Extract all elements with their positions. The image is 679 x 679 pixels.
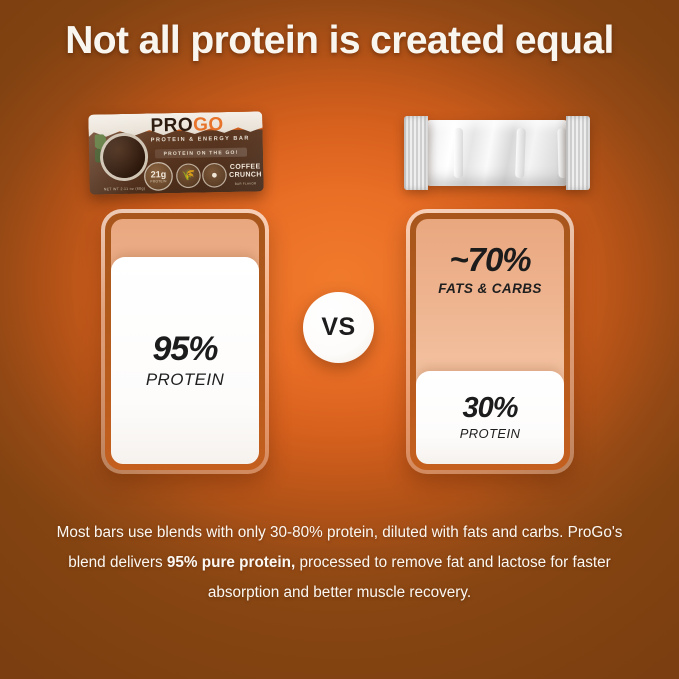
protein-amount-value: 21g bbox=[151, 170, 167, 179]
generic-fats-carbs-label: FATS & CARBS bbox=[438, 281, 542, 296]
comparison-card-progo: 95% PROTEIN bbox=[101, 209, 269, 474]
bar-flavor-plate: COFFEE CRUNCH BAR FLAVOR bbox=[229, 160, 262, 189]
body-bold-claim: 95% pure protein, bbox=[167, 554, 295, 571]
infographic-stage: Not all protein is created equal PROGO P… bbox=[0, 0, 679, 679]
card-fill-fats: 95% PROTEIN bbox=[111, 219, 259, 464]
wrapper-fold bbox=[454, 128, 463, 178]
bar-tagline: PROTEIN ON THE GO! bbox=[155, 148, 247, 159]
progo-protein-percent: 95% bbox=[152, 332, 217, 366]
wrapper-fold bbox=[515, 128, 526, 178]
versus-badge: VS bbox=[303, 292, 374, 363]
wrapper-crimp-right bbox=[566, 116, 590, 190]
protein-share-panel: 30% PROTEIN bbox=[416, 371, 564, 464]
fats-carbs-block: ~70% FATS & CARBS bbox=[416, 243, 564, 296]
comparison-card-generic: ~70% FATS & CARBS 30% PROTEIN bbox=[406, 209, 574, 474]
progo-logo: PROGO bbox=[150, 115, 224, 135]
generic-bar-wrapper-image bbox=[404, 116, 590, 190]
card-border-frame: 95% PROTEIN bbox=[105, 213, 265, 470]
progo-product-bar-image: PROGO PROTEIN & ENERGY BAR PROTEIN ON TH… bbox=[88, 111, 264, 194]
flavor-line-2: CRUNCH bbox=[229, 171, 262, 180]
progo-protein-label: PROTEIN bbox=[146, 370, 224, 390]
logo-pro-text: PRO bbox=[150, 115, 193, 137]
card-border-frame: ~70% FATS & CARBS 30% PROTEIN bbox=[410, 213, 570, 470]
logo-go-text: GO bbox=[193, 114, 224, 136]
protein-amount-label: PROTEIN bbox=[150, 179, 166, 183]
generic-protein-percent: 30% bbox=[462, 394, 517, 423]
wrapper-crimp-left bbox=[404, 116, 428, 190]
flavor-line-3: BAR FLAVOR bbox=[235, 182, 257, 186]
body-paragraph: Most bars use blends with only 30-80% pr… bbox=[55, 518, 624, 608]
generic-fats-carbs-percent: ~70% bbox=[449, 243, 530, 276]
card-fill-fats: ~70% FATS & CARBS 30% PROTEIN bbox=[416, 219, 564, 464]
page-title: Not all protein is created equal bbox=[0, 19, 679, 63]
bar-net-weight: NET WT 2.11 oz (60g) bbox=[104, 187, 146, 192]
wrapper-body bbox=[424, 120, 570, 186]
protein-share-panel: 95% PROTEIN bbox=[111, 257, 259, 464]
generic-protein-label: PROTEIN bbox=[460, 426, 521, 441]
